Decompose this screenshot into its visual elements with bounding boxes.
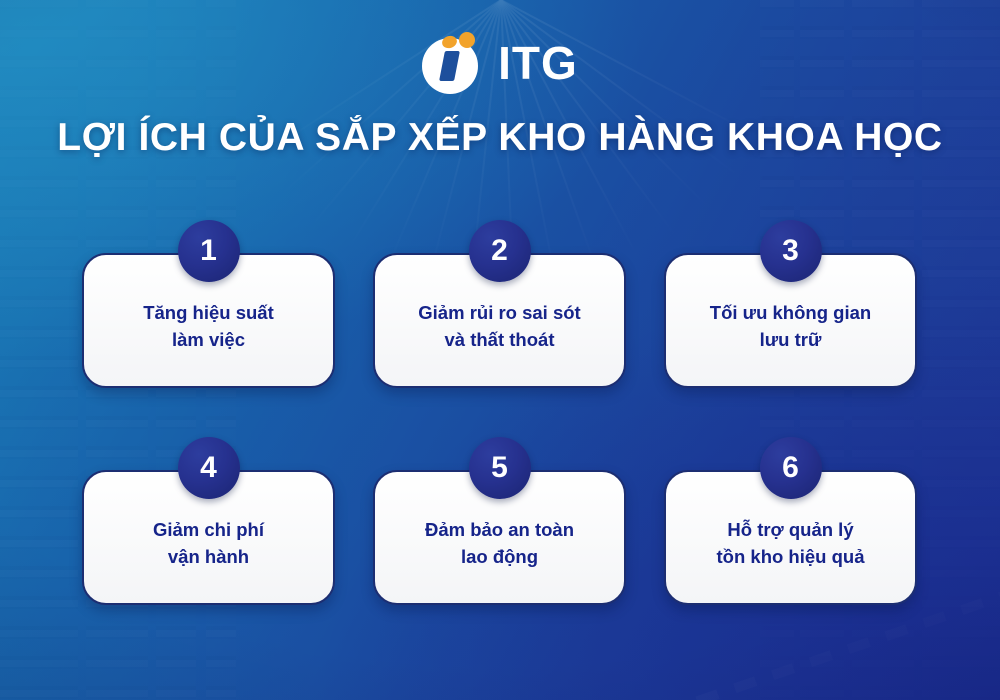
poster-header: ITG LỢI ÍCH CỦA SẮP XẾP KHO HÀNG KHOA HỌ…	[0, 0, 1000, 160]
benefit-number-badge: 1	[178, 220, 240, 282]
benefit-number-badge: 4	[178, 437, 240, 499]
brand-logo: ITG	[422, 32, 578, 94]
itg-circle-logo-icon	[422, 32, 484, 94]
benefit-number-label: 6	[782, 453, 799, 483]
benefit-text: Tối ưu không gianlưu trữ	[710, 300, 871, 353]
benefit-card-4[interactable]: 4Giảm chi phívận hành	[82, 470, 335, 605]
benefit-card-2[interactable]: 2Giảm rủi ro sai sótvà thất thoát	[373, 253, 626, 388]
page-title: LỢI ÍCH CỦA SẮP XẾP KHO HÀNG KHOA HỌC	[57, 116, 942, 160]
infographic-poster: ITG LỢI ÍCH CỦA SẮP XẾP KHO HÀNG KHOA HỌ…	[0, 0, 1000, 700]
benefit-number-badge: 3	[760, 220, 822, 282]
benefit-card-6[interactable]: 6Hỗ trợ quản lýtồn kho hiệu quả	[664, 470, 917, 605]
benefit-number-badge: 6	[760, 437, 822, 499]
benefit-card-5[interactable]: 5Đảm bảo an toànlao động	[373, 470, 626, 605]
benefit-number-badge: 2	[469, 220, 531, 282]
benefit-number-label: 2	[491, 236, 508, 266]
benefit-card-3[interactable]: 3Tối ưu không gianlưu trữ	[664, 253, 917, 388]
benefit-number-label: 1	[200, 236, 217, 266]
benefit-card-grid: 1Tăng hiệu suấtlàm việc2Giảm rủi ro sai …	[82, 253, 918, 605]
benefit-number-label: 4	[200, 453, 217, 483]
benefit-text: Tăng hiệu suấtlàm việc	[143, 300, 274, 353]
benefit-number-label: 5	[491, 453, 508, 483]
logo-dot-large-icon	[459, 32, 475, 48]
benefit-text: Hỗ trợ quản lýtồn kho hiệu quả	[717, 517, 865, 570]
benefit-number-label: 3	[782, 236, 799, 266]
benefit-text: Đảm bảo an toànlao động	[425, 517, 574, 570]
benefit-card-1[interactable]: 1Tăng hiệu suấtlàm việc	[82, 253, 335, 388]
benefit-text: Giảm rủi ro sai sótvà thất thoát	[418, 300, 580, 353]
benefit-text: Giảm chi phívận hành	[153, 517, 264, 570]
benefit-number-badge: 5	[469, 437, 531, 499]
brand-wordmark: ITG	[498, 40, 578, 86]
